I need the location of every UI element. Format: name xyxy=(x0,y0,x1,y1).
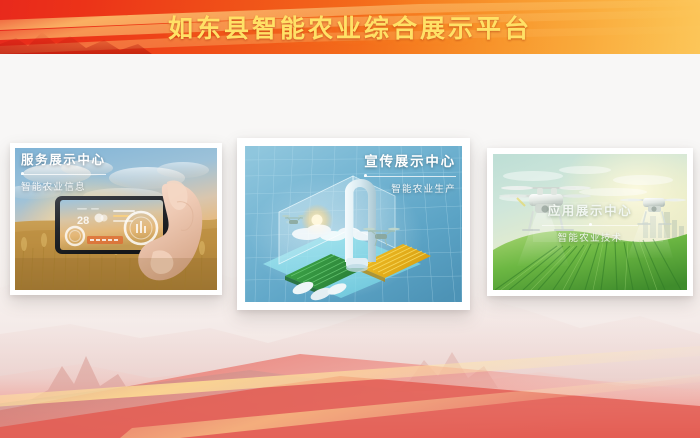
card-application-display-center[interactable]: 应用展示中心 智能农业技术 xyxy=(487,148,693,296)
pink-wash xyxy=(0,378,700,438)
light-streak-2 xyxy=(120,374,700,438)
card-service-display-center[interactable]: 28 xyxy=(10,143,222,295)
band-grey xyxy=(0,370,700,438)
page-title: 如东县智能农业综合展示平台 xyxy=(0,0,700,54)
card-application-subtitle: 智能农业技术 xyxy=(487,230,693,244)
band-red-deep xyxy=(0,376,700,438)
card-service-title: 服务展示中心 xyxy=(21,153,106,169)
card-service-divider xyxy=(21,174,106,175)
card-application-title: 应用展示中心 xyxy=(487,204,693,220)
card-application-divider xyxy=(542,225,638,226)
card-service-subtitle: 智能农业信息 xyxy=(21,179,106,193)
card-promotion-divider xyxy=(364,176,456,177)
band-red xyxy=(0,354,700,438)
card-service-caption: 服务展示中心 智能农业信息 xyxy=(21,153,106,193)
page-header-banner: 如东县智能农业综合展示平台 xyxy=(0,0,700,54)
card-application-caption: 应用展示中心 智能农业技术 xyxy=(487,204,693,244)
card-promotion-subtitle: 智能农业生产 xyxy=(364,181,456,195)
card-promotion-title: 宣传展示中心 xyxy=(364,154,456,171)
light-streak-1 xyxy=(0,346,700,408)
mid-ridge xyxy=(0,290,700,438)
svg-text:28: 28 xyxy=(77,215,89,227)
card-promotion-caption: 宣传展示中心 智能农业生产 xyxy=(364,154,456,195)
left-peaks xyxy=(30,356,132,400)
right-peaks xyxy=(394,352,498,392)
card-promotion-display-center[interactable]: 宣传展示中心 智能农业生产 xyxy=(237,138,470,310)
platform-landing-page: 如东县智能农业综合展示平台 xyxy=(0,0,700,438)
near-ridge xyxy=(0,364,700,438)
